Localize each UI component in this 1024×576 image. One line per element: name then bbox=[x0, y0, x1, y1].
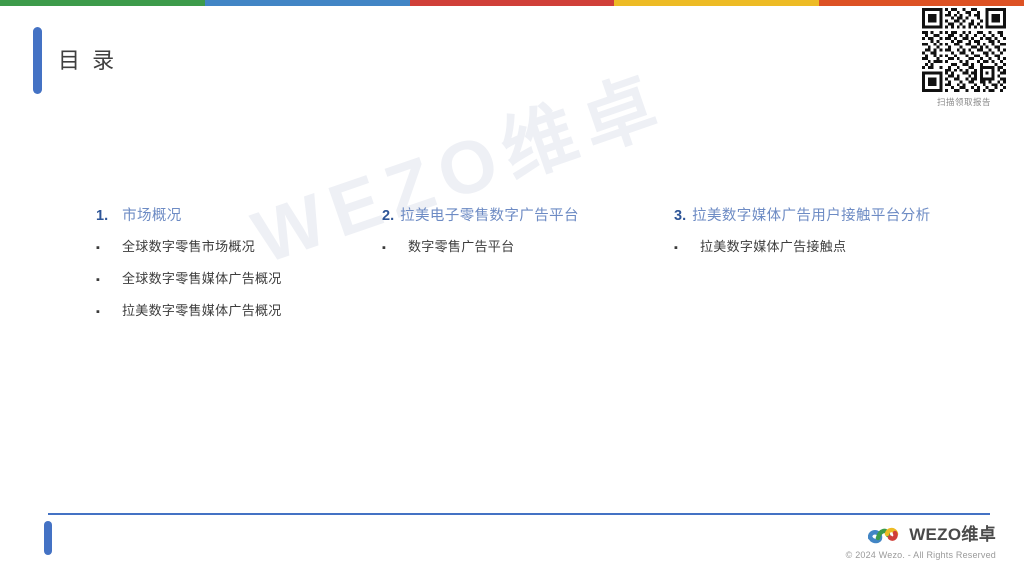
toc-title-2: 拉美电子零售数字广告平台 bbox=[400, 204, 579, 225]
toc-heading-2[interactable]: 2. 拉美电子零售数字广告平台 bbox=[382, 204, 682, 225]
top-bar-segment-red bbox=[410, 0, 615, 6]
toc-column-2: 2. 拉美电子零售数字广告平台 ▪ 数字零售广告平台 bbox=[382, 204, 682, 332]
toc-title-3: 拉美数字媒体广告用户接触平台分析 bbox=[692, 204, 930, 225]
toc-number-3: 3. bbox=[674, 208, 686, 224]
bullet-icon: ▪ bbox=[96, 275, 106, 286]
title-accent-bar bbox=[33, 27, 42, 94]
bullet-icon: ▪ bbox=[674, 243, 684, 254]
table-of-contents: 1. 市场概况 ▪ 全球数字零售市场概况 ▪ 全球数字零售媒体广告概况 ▪ 拉美… bbox=[0, 204, 1024, 332]
brand-wordmark: WEZO维卓 bbox=[909, 526, 996, 543]
page-title: 目 录 bbox=[58, 50, 117, 72]
toc-heading-3[interactable]: 3. 拉美数字媒体广告用户接触平台分析 bbox=[674, 204, 994, 225]
toc-number-2: 2. bbox=[382, 208, 394, 224]
toc-item[interactable]: ▪ 全球数字零售市场概况 bbox=[96, 236, 396, 255]
footer-brand: WEZO维卓 © 2024 Wezo. - All Rights Reserve… bbox=[846, 524, 996, 560]
toc-column-3: 3. 拉美数字媒体广告用户接触平台分析 ▪ 拉美数字媒体广告接触点 bbox=[674, 204, 994, 332]
wezo-ribbon-logo-icon bbox=[868, 524, 902, 544]
toc-item[interactable]: ▪ 数字零售广告平台 bbox=[382, 236, 682, 255]
toc-number-1: 1. bbox=[96, 208, 108, 224]
toc-title-1: 市场概况 bbox=[122, 204, 182, 225]
top-bar-segment-yellow bbox=[614, 0, 819, 6]
copyright-text: © 2024 Wezo. - All Rights Reserved bbox=[846, 550, 996, 560]
toc-heading-1[interactable]: 1. 市场概况 bbox=[96, 204, 396, 225]
toc-item[interactable]: ▪ 全球数字零售媒体广告概况 bbox=[96, 268, 396, 287]
toc-item-label: 数字零售广告平台 bbox=[408, 236, 514, 255]
qr-code-icon[interactable] bbox=[922, 8, 1006, 92]
bullet-icon: ▪ bbox=[96, 307, 106, 318]
footer-accent-bar bbox=[44, 521, 52, 555]
qr-caption: 扫描领取报告 bbox=[918, 96, 1010, 108]
toc-item-label: 拉美数字零售媒体广告概况 bbox=[122, 300, 282, 319]
top-color-bar bbox=[0, 0, 1024, 6]
brand-logo: WEZO维卓 bbox=[846, 524, 996, 544]
bullet-icon: ▪ bbox=[96, 243, 106, 254]
footer-divider bbox=[48, 513, 990, 515]
toc-column-1: 1. 市场概况 ▪ 全球数字零售市场概况 ▪ 全球数字零售媒体广告概况 ▪ 拉美… bbox=[96, 204, 396, 332]
toc-item-label: 全球数字零售媒体广告概况 bbox=[122, 268, 282, 287]
toc-item-label: 拉美数字媒体广告接触点 bbox=[700, 236, 846, 255]
page-title-block: 目 录 bbox=[33, 27, 117, 94]
toc-item[interactable]: ▪ 拉美数字媒体广告接触点 bbox=[674, 236, 994, 255]
toc-item-label: 全球数字零售市场概况 bbox=[122, 236, 255, 255]
qr-block[interactable]: 扫描领取报告 bbox=[918, 8, 1010, 108]
top-bar-segment-orange bbox=[819, 0, 1024, 6]
top-bar-segment-blue bbox=[205, 0, 410, 6]
bullet-icon: ▪ bbox=[382, 243, 392, 254]
toc-item[interactable]: ▪ 拉美数字零售媒体广告概况 bbox=[96, 300, 396, 319]
top-bar-segment-green bbox=[0, 0, 205, 6]
